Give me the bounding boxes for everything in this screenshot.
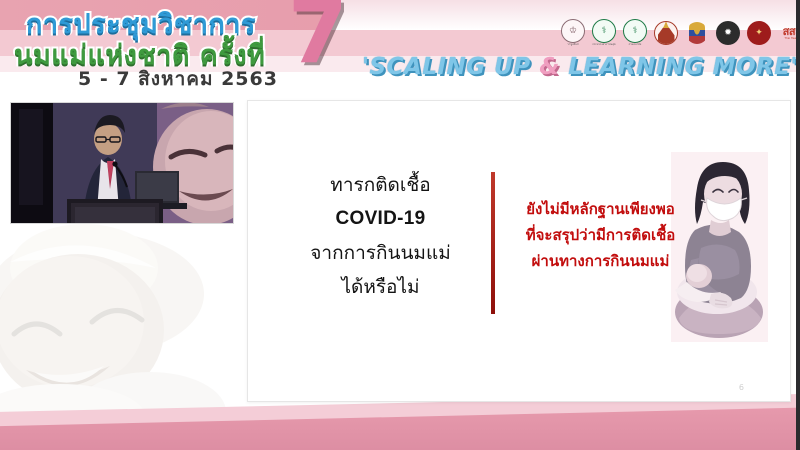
- answer-line-3: ผ่านทางการกินนมแม่: [498, 248, 703, 274]
- royal-patronage-emblem-icon: ♔ราชูปถัมภ์: [560, 18, 586, 48]
- royal-crown-emblem-icon: [684, 18, 710, 48]
- conference-tagline: 'SCALING UP & LEARNING MORE': [362, 54, 796, 80]
- window-frame-right-edge: [796, 0, 800, 450]
- thai-breastfeeding-centre-emblem-icon: [653, 18, 679, 48]
- question-line-4: ได้หรือไม่: [278, 270, 483, 304]
- slide-number: 6: [739, 383, 744, 392]
- smiling-child-with-hat-watermark: [0, 222, 248, 422]
- conference-date: 5 - 7 สิงหาคม 2563: [78, 64, 278, 94]
- tagline-ampersand: &: [539, 54, 560, 80]
- garuda-emblem-icon: ✦: [746, 18, 772, 48]
- answer-text-block: ยังไม่มีหลักฐานเพียงพอ ที่จะสรุปว่ามีการ…: [498, 196, 703, 274]
- question-line-1: ทารกติดเชื้อ: [278, 168, 483, 202]
- sponsor-logo-row: ♔ราชูปถัมภ์ ⚕กระทรวงสาธารณสุข ⚕กรมอนามัย…: [560, 18, 796, 48]
- tagline-suffix: LEARNING MORE': [560, 54, 796, 80]
- tagline-prefix: 'SCALING UP: [362, 54, 539, 80]
- presenter-webcam-feed[interactable]: [10, 102, 234, 224]
- conference-header-banner: การประชุมวิชาการ นมแม่แห่งชาติ ครั้งที่ …: [0, 0, 796, 98]
- answer-line-1: ยังไม่มีหลักฐานเพียงพอ: [498, 196, 703, 222]
- question-text-block: ทารกติดเชื้อ COVID-19 จากการกินนมแม่ ได้…: [278, 168, 483, 304]
- question-answer-divider: [491, 172, 495, 314]
- question-line-3: จากการกินนมแม่: [278, 236, 483, 270]
- department-of-health-emblem-icon: ⚕กรมอนามัย: [622, 18, 648, 48]
- answer-line-2: ที่จะสรุปว่ามีการติดเชื้อ: [498, 222, 703, 248]
- ministry-of-public-health-emblem-icon: ⚕กระทรวงสาธารณสุข: [591, 18, 617, 48]
- question-line-2: COVID-19: [278, 202, 483, 236]
- conference-edition-number: 7: [288, 0, 348, 76]
- slide-stage: การประชุมวิชาการ นมแม่แห่งชาติ ครั้งที่ …: [0, 0, 800, 450]
- national-health-security-emblem-icon: ✹: [715, 18, 741, 48]
- thaihealth-sss-logo-icon: สสส Thai Health: [777, 18, 796, 48]
